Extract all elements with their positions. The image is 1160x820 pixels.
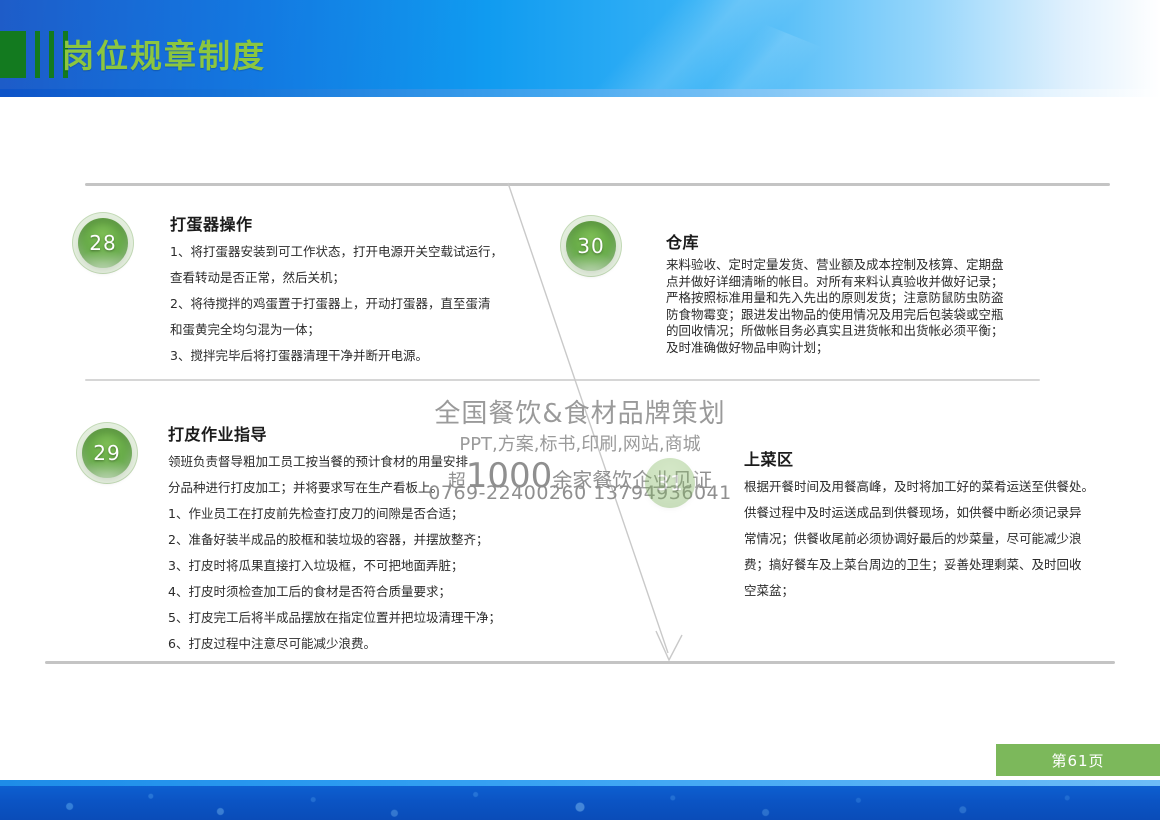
section-31-line-4: 费；搞好餐车及上菜台周边的卫生；妥善处理剩菜、及时回收	[744, 552, 1124, 578]
section-31-line-3: 常情况；供餐收尾前必须协调好最后的炒菜量，尽可能减少浪	[744, 526, 1124, 552]
section-29-item-5: 5、打皮完工后将半成品摆放在指定位置并把垃圾清理干净；	[168, 605, 568, 631]
section-29-item-4: 4、打皮时须检查加工后的食材是否符合质量要求；	[168, 579, 568, 605]
section-badge-31: 31	[645, 458, 695, 508]
section-29-item-2: 2、准备好装半成品的胶框和装垃圾的容器，并摆放整齐；	[168, 527, 568, 553]
page-title: 岗位规章制度	[62, 36, 266, 76]
section-29-text: 打皮作业指导 领班负责督导粗加工员工按当餐的预计食材的用量安排 分品种进行打皮加…	[168, 421, 568, 657]
section-30-line-1: 来料验收、定时定量发货、营业额及成本控制及核算、定期盘	[666, 257, 1036, 274]
divider-bottom	[45, 661, 1115, 664]
section-29-intro: 领班负责督导粗加工员工按当餐的预计食材的用量安排 分品种进行打皮加工；并将要求写…	[168, 449, 568, 501]
section-28-line-4: 和蛋黄完全均匀混为一体；	[170, 317, 530, 343]
section-30-line-2: 点并做好详细清晰的帐目。对所有来料认真验收并做好记录；	[666, 274, 1036, 291]
section-29-items: 1、作业员工在打皮前先检查打皮刀的间隙是否合适； 2、准备好装半成品的胶框和装垃…	[168, 501, 568, 657]
section-29-item-6: 6、打皮过程中注意尽可能减少浪费。	[168, 631, 568, 657]
section-31-line-2: 供餐过程中及时运送成品到供餐现场，如供餐中断必须记录异	[744, 500, 1124, 526]
section-29-item-1: 1、作业员工在打皮前先检查打皮刀的间隙是否合适；	[168, 501, 568, 527]
section-28-body: 1、将打蛋器安装到可工作状态，打开电源开关空载试运行， 查看转动是否正常，然后关…	[170, 239, 530, 369]
page-number-badge: 第61页	[996, 744, 1160, 776]
section-31-line-5: 空菜盆；	[744, 578, 1124, 604]
slide-header: 岗位规章制度	[0, 0, 1160, 97]
header-sheen-decoration	[455, 0, 926, 97]
section-30-line-3: 严格按照标准用量和先入先出的原则发货；注意防鼠防虫防盗	[666, 290, 1036, 307]
section-29-intro-line-1: 领班负责督导粗加工员工按当餐的预计食材的用量安排	[168, 449, 568, 475]
section-28-line-2: 查看转动是否正常，然后关机；	[170, 265, 530, 291]
section-28-line-1: 1、将打蛋器安装到可工作状态，打开电源开关空载试运行，	[170, 239, 530, 265]
slide-footer	[0, 780, 1160, 820]
section-29-item-3: 3、打皮时将瓜果直接打入垃圾框，不可把地面弄脏；	[168, 553, 568, 579]
section-30-line-6: 及时准确做好物品申购计划；	[666, 340, 1036, 357]
section-30-text: 仓库 来料验收、定时定量发货、营业额及成本控制及核算、定期盘 点并做好详细清晰的…	[666, 229, 1036, 356]
section-badge-29: 29	[82, 428, 132, 478]
section-30-title: 仓库	[666, 229, 1036, 253]
section-29-intro-line-2: 分品种进行打皮加工；并将要求写在生产看板上。	[168, 475, 568, 501]
header-bottom-accent	[0, 89, 1160, 97]
header-green-bars	[0, 31, 68, 78]
header-sheen-decoration-2	[533, 0, 886, 97]
section-28-line-5: 3、搅拌完毕后将打蛋器清理干净并断开电源。	[170, 343, 530, 369]
footer-bokeh-decoration	[0, 786, 1160, 820]
section-30-body: 来料验收、定时定量发货、营业额及成本控制及核算、定期盘 点并做好详细清晰的帐目。…	[666, 257, 1036, 356]
slide-body: 全国餐饮&食材品牌策划 PPT,方案,标书,印刷,网站,商城 超1000余家餐饮…	[0, 101, 1160, 735]
divider-top	[85, 183, 1110, 186]
section-28-text: 打蛋器操作 1、将打蛋器安装到可工作状态，打开电源开关空载试运行， 查看转动是否…	[170, 211, 530, 369]
green-bar-1	[35, 31, 40, 78]
section-31-text: 上菜区 根据开餐时间及用餐高峰，及时将加工好的菜肴运送至供餐处。 供餐过程中及时…	[744, 446, 1124, 604]
divider-middle	[85, 379, 1040, 381]
section-29-title: 打皮作业指导	[168, 421, 568, 445]
section-28-title: 打蛋器操作	[170, 211, 530, 235]
section-28-line-3: 2、将待搅拌的鸡蛋置于打蛋器上，开动打蛋器，直至蛋清	[170, 291, 530, 317]
section-30-line-4: 防食物霉变；跟进发出物品的使用情况及用完后包装袋或空瓶	[666, 307, 1036, 324]
section-31-title: 上菜区	[744, 446, 1124, 470]
green-bar-block	[0, 31, 26, 78]
section-30-line-5: 的回收情况；所做帐目务必真实且进货帐和出货帐必须平衡；	[666, 323, 1036, 340]
section-31-body: 根据开餐时间及用餐高峰，及时将加工好的菜肴运送至供餐处。 供餐过程中及时运送成品…	[744, 474, 1124, 604]
section-badge-30: 30	[566, 221, 616, 271]
section-31-line-1: 根据开餐时间及用餐高峰，及时将加工好的菜肴运送至供餐处。	[744, 474, 1124, 500]
green-bar-2	[49, 31, 54, 78]
section-badge-28: 28	[78, 218, 128, 268]
slide-root: 岗位规章制度 全国餐饮&食材品牌策划 PPT,方案,标书,印刷,网站,商城 超1…	[0, 0, 1160, 820]
